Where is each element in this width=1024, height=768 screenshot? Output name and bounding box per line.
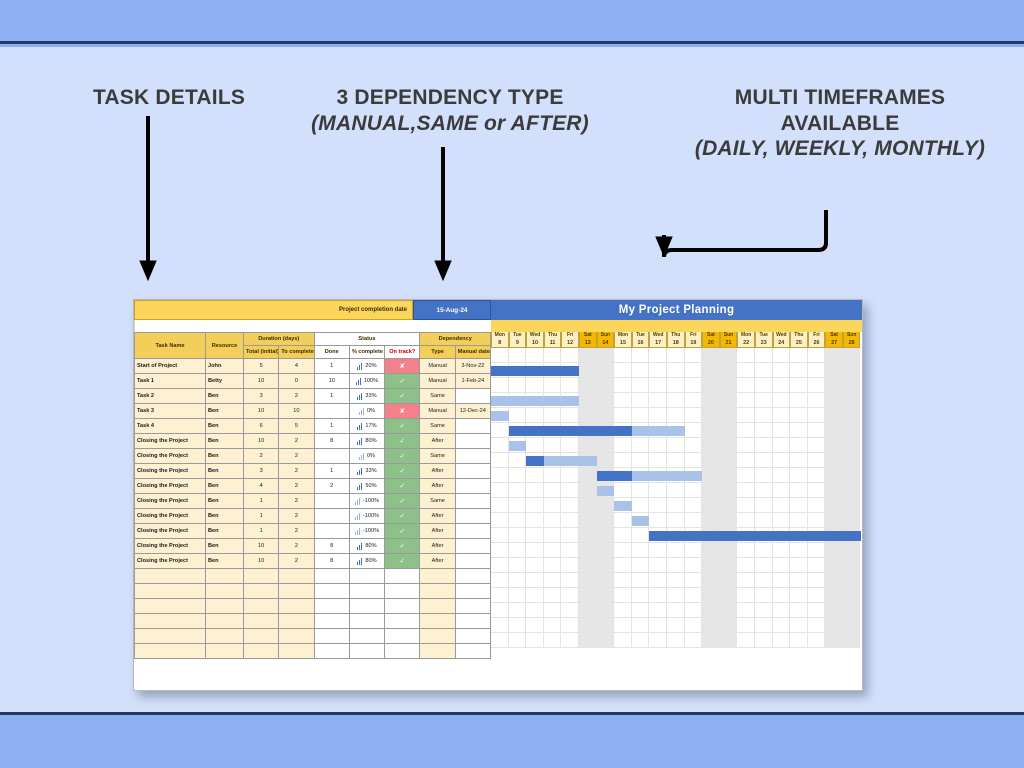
- cell-empty[interactable]: [244, 644, 279, 659]
- table-row-empty[interactable]: [135, 644, 491, 659]
- gantt-cell[interactable]: [773, 633, 791, 648]
- cell-total-initial[interactable]: 6: [244, 419, 279, 434]
- cell-to-complete[interactable]: 5: [279, 419, 314, 434]
- gantt-cell[interactable]: [632, 453, 650, 468]
- gantt-cell[interactable]: [597, 453, 615, 468]
- gantt-cell[interactable]: [755, 453, 773, 468]
- cell-task-name[interactable]: Task 4: [135, 419, 206, 434]
- gantt-cell[interactable]: [685, 528, 703, 543]
- cell-pct-complete[interactable]: 80%: [349, 539, 384, 554]
- gantt-cell[interactable]: [526, 588, 544, 603]
- gantt-cell[interactable]: [755, 498, 773, 513]
- col-manual-date[interactable]: Manual date: [455, 346, 490, 359]
- gantt-cell[interactable]: [632, 633, 650, 648]
- gantt-cell[interactable]: [702, 603, 720, 618]
- gantt-cell[interactable]: [755, 408, 773, 423]
- cell-done[interactable]: 1: [314, 464, 349, 479]
- gantt-cell[interactable]: [667, 483, 685, 498]
- gantt-cell[interactable]: [808, 363, 826, 378]
- gantt-cell[interactable]: [544, 378, 562, 393]
- cell-task-name[interactable]: Task 1: [135, 374, 206, 389]
- gantt-cell[interactable]: [843, 588, 861, 603]
- gantt-cell[interactable]: [491, 573, 509, 588]
- cell-to-complete[interactable]: 2: [279, 524, 314, 539]
- gantt-cell[interactable]: [632, 393, 650, 408]
- gantt-cell[interactable]: [808, 588, 826, 603]
- gantt-cell[interactable]: [649, 603, 667, 618]
- cell-total-initial[interactable]: 1: [244, 524, 279, 539]
- col-dependency-type[interactable]: Type: [420, 346, 455, 359]
- gantt-cell[interactable]: [667, 378, 685, 393]
- cell-resource[interactable]: Ben: [206, 389, 244, 404]
- gantt-day-header[interactable]: Sat20: [702, 332, 720, 348]
- col-done[interactable]: Done: [314, 346, 349, 359]
- cell-pct-complete[interactable]: -100%: [349, 524, 384, 539]
- status-badge[interactable]: ✓: [385, 494, 420, 509]
- gantt-cell[interactable]: [561, 528, 579, 543]
- gantt-cell[interactable]: [579, 438, 597, 453]
- gantt-cell[interactable]: [808, 453, 826, 468]
- gantt-cell[interactable]: [614, 513, 632, 528]
- cell-empty[interactable]: [135, 584, 206, 599]
- gantt-cell[interactable]: [737, 453, 755, 468]
- gantt-cell[interactable]: [526, 468, 544, 483]
- gantt-cell[interactable]: [509, 543, 527, 558]
- gantt-cell[interactable]: [702, 633, 720, 648]
- gantt-cell[interactable]: [773, 513, 791, 528]
- gantt-cell[interactable]: [737, 363, 755, 378]
- gantt-cell[interactable]: [561, 588, 579, 603]
- gantt-cell[interactable]: [685, 348, 703, 363]
- gantt-cell[interactable]: [649, 453, 667, 468]
- cell-dependency-type[interactable]: Same: [420, 494, 455, 509]
- gantt-cell[interactable]: [491, 423, 509, 438]
- gantt-cell[interactable]: [579, 543, 597, 558]
- gantt-cell[interactable]: [702, 573, 720, 588]
- gantt-cell[interactable]: [702, 423, 720, 438]
- gantt-cell[interactable]: [685, 393, 703, 408]
- cell-empty[interactable]: [455, 599, 490, 614]
- gantt-row[interactable]: [491, 408, 862, 423]
- gantt-cell[interactable]: [526, 573, 544, 588]
- gantt-cell[interactable]: [614, 543, 632, 558]
- gantt-cell[interactable]: [808, 618, 826, 633]
- gantt-cell[interactable]: [491, 348, 509, 363]
- gantt-cell[interactable]: [702, 528, 720, 543]
- gantt-row[interactable]: [491, 498, 862, 513]
- gantt-cell[interactable]: [825, 573, 843, 588]
- gantt-cell[interactable]: [597, 408, 615, 423]
- gantt-cell[interactable]: [614, 618, 632, 633]
- gantt-cell[interactable]: [825, 558, 843, 573]
- cell-empty[interactable]: [314, 584, 349, 599]
- cell-done[interactable]: [314, 494, 349, 509]
- gantt-cell[interactable]: [685, 408, 703, 423]
- gantt-cell[interactable]: [614, 558, 632, 573]
- col-task-name[interactable]: Task Name: [135, 333, 206, 359]
- cell-empty[interactable]: [385, 629, 420, 644]
- cell-manual-date[interactable]: 3-Nov-22: [455, 359, 490, 374]
- cell-empty[interactable]: [385, 644, 420, 659]
- gantt-cell[interactable]: [509, 588, 527, 603]
- gantt-cell[interactable]: [579, 513, 597, 528]
- gantt-cell[interactable]: [544, 588, 562, 603]
- cell-manual-date[interactable]: [455, 479, 490, 494]
- gantt-cell[interactable]: [790, 468, 808, 483]
- cell-manual-date[interactable]: [455, 419, 490, 434]
- gantt-cell[interactable]: [702, 468, 720, 483]
- gantt-day-header[interactable]: Sun28: [843, 332, 861, 348]
- gantt-cell[interactable]: [579, 453, 597, 468]
- gantt-cell[interactable]: [720, 633, 738, 648]
- gantt-cell[interactable]: [755, 618, 773, 633]
- gantt-cell[interactable]: [544, 543, 562, 558]
- gantt-cell[interactable]: [561, 513, 579, 528]
- cell-empty[interactable]: [279, 614, 314, 629]
- cell-dependency-type[interactable]: After: [420, 464, 455, 479]
- cell-empty[interactable]: [455, 584, 490, 599]
- gantt-cell[interactable]: [491, 483, 509, 498]
- gantt-cell[interactable]: [843, 528, 861, 543]
- cell-empty[interactable]: [349, 599, 384, 614]
- gantt-cell[interactable]: [544, 513, 562, 528]
- gantt-day-header[interactable]: Tue16: [632, 332, 650, 348]
- cell-resource[interactable]: Ben: [206, 509, 244, 524]
- gantt-cell[interactable]: [649, 528, 667, 543]
- gantt-cell[interactable]: [649, 573, 667, 588]
- col-on-track[interactable]: On track?: [385, 346, 420, 359]
- status-badge[interactable]: ✓: [385, 539, 420, 554]
- cell-empty[interactable]: [279, 599, 314, 614]
- cell-task-name[interactable]: Closing the Project: [135, 509, 206, 524]
- cell-to-complete[interactable]: 2: [279, 494, 314, 509]
- cell-empty[interactable]: [279, 644, 314, 659]
- gantt-cell[interactable]: [509, 633, 527, 648]
- cell-empty[interactable]: [420, 599, 455, 614]
- table-row[interactable]: Closing the ProjectBen12-100%✓After: [135, 524, 491, 539]
- gantt-cell[interactable]: [773, 573, 791, 588]
- cell-dependency-type[interactable]: After: [420, 554, 455, 569]
- cell-total-initial[interactable]: 1: [244, 494, 279, 509]
- cell-total-initial[interactable]: 10: [244, 539, 279, 554]
- gantt-cell[interactable]: [685, 483, 703, 498]
- cell-empty[interactable]: [206, 614, 244, 629]
- gantt-cell[interactable]: [825, 363, 843, 378]
- cell-to-complete[interactable]: 2: [279, 449, 314, 464]
- gantt-cell[interactable]: [685, 558, 703, 573]
- cell-empty[interactable]: [206, 584, 244, 599]
- gantt-cell[interactable]: [597, 438, 615, 453]
- gantt-cell[interactable]: [509, 408, 527, 423]
- gantt-cell[interactable]: [544, 498, 562, 513]
- gantt-cell[interactable]: [509, 438, 527, 453]
- cell-total-initial[interactable]: 2: [244, 449, 279, 464]
- gantt-cell[interactable]: [649, 543, 667, 558]
- gantt-cell[interactable]: [667, 348, 685, 363]
- cell-empty[interactable]: [349, 644, 384, 659]
- table-row-empty[interactable]: [135, 584, 491, 599]
- cell-manual-date[interactable]: [455, 449, 490, 464]
- gantt-cell[interactable]: [737, 483, 755, 498]
- gantt-cell[interactable]: [843, 423, 861, 438]
- gantt-cell[interactable]: [737, 633, 755, 648]
- gantt-cell[interactable]: [632, 378, 650, 393]
- gantt-cell[interactable]: [667, 558, 685, 573]
- gantt-cell[interactable]: [632, 498, 650, 513]
- gantt-cell[interactable]: [491, 408, 509, 423]
- gantt-cell[interactable]: [509, 453, 527, 468]
- gantt-cell[interactable]: [526, 348, 544, 363]
- cell-manual-date[interactable]: [455, 494, 490, 509]
- gantt-cell[interactable]: [808, 513, 826, 528]
- gantt-cell[interactable]: [773, 543, 791, 558]
- gantt-cell[interactable]: [773, 483, 791, 498]
- gantt-cell[interactable]: [649, 468, 667, 483]
- gantt-cell[interactable]: [579, 603, 597, 618]
- gantt-cell[interactable]: [509, 393, 527, 408]
- cell-done[interactable]: [314, 524, 349, 539]
- cell-pct-complete[interactable]: 33%: [349, 464, 384, 479]
- gantt-cell[interactable]: [720, 483, 738, 498]
- gantt-cell[interactable]: [843, 438, 861, 453]
- gantt-cell[interactable]: [843, 618, 861, 633]
- gantt-day-header[interactable]: Wed24: [773, 332, 791, 348]
- gantt-cell[interactable]: [526, 378, 544, 393]
- gantt-cell[interactable]: [843, 378, 861, 393]
- cell-task-name[interactable]: Closing the Project: [135, 524, 206, 539]
- gantt-cell[interactable]: [632, 543, 650, 558]
- gantt-cell[interactable]: [773, 498, 791, 513]
- gantt-cell[interactable]: [649, 423, 667, 438]
- table-row-empty[interactable]: [135, 629, 491, 644]
- cell-empty[interactable]: [135, 599, 206, 614]
- gantt-cell[interactable]: [579, 378, 597, 393]
- gantt-cell[interactable]: [544, 348, 562, 363]
- cell-dependency-type[interactable]: Same: [420, 419, 455, 434]
- gantt-cell[interactable]: [737, 588, 755, 603]
- gantt-cell[interactable]: [597, 618, 615, 633]
- gantt-cell[interactable]: [544, 468, 562, 483]
- gantt-cell[interactable]: [825, 453, 843, 468]
- gantt-cell[interactable]: [614, 573, 632, 588]
- gantt-cell[interactable]: [509, 468, 527, 483]
- gantt-cell[interactable]: [649, 558, 667, 573]
- gantt-cell[interactable]: [509, 513, 527, 528]
- gantt-cell[interactable]: [702, 408, 720, 423]
- gantt-row[interactable]: [491, 393, 862, 408]
- gantt-cell[interactable]: [579, 483, 597, 498]
- col-total-initial[interactable]: Total (initial): [244, 346, 279, 359]
- cell-empty[interactable]: [279, 569, 314, 584]
- gantt-cell[interactable]: [509, 603, 527, 618]
- cell-resource[interactable]: Ben: [206, 524, 244, 539]
- gantt-cell[interactable]: [667, 363, 685, 378]
- table-row[interactable]: Closing the ProjectBen102880%✓After: [135, 554, 491, 569]
- gantt-cell[interactable]: [720, 378, 738, 393]
- gantt-day-header[interactable]: Thu11: [544, 332, 562, 348]
- gantt-row[interactable]: [491, 618, 862, 633]
- gantt-cell[interactable]: [843, 483, 861, 498]
- gantt-cell[interactable]: [614, 633, 632, 648]
- gantt-row[interactable]: [491, 558, 862, 573]
- gantt-cell[interactable]: [843, 543, 861, 558]
- gantt-cell[interactable]: [737, 513, 755, 528]
- gantt-cell[interactable]: [825, 498, 843, 513]
- gantt-cell[interactable]: [509, 348, 527, 363]
- table-row[interactable]: Start of ProjectJohn54120%✘Manual3-Nov-2…: [135, 359, 491, 374]
- gantt-cell[interactable]: [790, 453, 808, 468]
- gantt-cell[interactable]: [667, 633, 685, 648]
- gantt-cell[interactable]: [808, 378, 826, 393]
- cell-done[interactable]: 8: [314, 539, 349, 554]
- gantt-cell[interactable]: [755, 468, 773, 483]
- cell-total-initial[interactable]: 10: [244, 554, 279, 569]
- table-row[interactable]: Closing the ProjectBen220%✓Same: [135, 449, 491, 464]
- gantt-cell[interactable]: [685, 363, 703, 378]
- cell-resource[interactable]: John: [206, 359, 244, 374]
- gantt-cell[interactable]: [790, 393, 808, 408]
- gantt-cell[interactable]: [649, 363, 667, 378]
- gantt-cell[interactable]: [702, 618, 720, 633]
- gantt-cell[interactable]: [790, 633, 808, 648]
- gantt-cell[interactable]: [667, 603, 685, 618]
- gantt-row[interactable]: [491, 513, 862, 528]
- gantt-row[interactable]: [491, 543, 862, 558]
- gantt-row[interactable]: [491, 378, 862, 393]
- cell-task-name[interactable]: Closing the Project: [135, 449, 206, 464]
- gantt-cell[interactable]: [632, 468, 650, 483]
- gantt-cell[interactable]: [755, 603, 773, 618]
- cell-resource[interactable]: Ben: [206, 419, 244, 434]
- gantt-cell[interactable]: [808, 438, 826, 453]
- table-row-empty[interactable]: [135, 614, 491, 629]
- gantt-cell[interactable]: [526, 393, 544, 408]
- gantt-cell[interactable]: [773, 348, 791, 363]
- gantt-cell[interactable]: [561, 603, 579, 618]
- gantt-cell[interactable]: [737, 408, 755, 423]
- gantt-cell[interactable]: [597, 378, 615, 393]
- gantt-cell[interactable]: [685, 453, 703, 468]
- gantt-cell[interactable]: [720, 393, 738, 408]
- cell-task-name[interactable]: Closing the Project: [135, 494, 206, 509]
- cell-empty[interactable]: [455, 644, 490, 659]
- gantt-cell[interactable]: [509, 528, 527, 543]
- gantt-row[interactable]: [491, 453, 862, 468]
- gantt-cell[interactable]: [737, 573, 755, 588]
- gantt-cell[interactable]: [526, 633, 544, 648]
- gantt-cell[interactable]: [526, 528, 544, 543]
- completion-date-value[interactable]: 15-Aug-24: [413, 300, 491, 320]
- cell-empty[interactable]: [420, 629, 455, 644]
- gantt-cell[interactable]: [491, 468, 509, 483]
- cell-task-name[interactable]: Closing the Project: [135, 479, 206, 494]
- gantt-cell[interactable]: [614, 438, 632, 453]
- gantt-cell[interactable]: [491, 453, 509, 468]
- gantt-cell[interactable]: [773, 528, 791, 543]
- cell-empty[interactable]: [206, 629, 244, 644]
- gantt-cell[interactable]: [843, 348, 861, 363]
- gantt-cell[interactable]: [526, 363, 544, 378]
- cell-empty[interactable]: [385, 599, 420, 614]
- cell-pct-complete[interactable]: 50%: [349, 479, 384, 494]
- gantt-cell[interactable]: [526, 498, 544, 513]
- cell-empty[interactable]: [279, 629, 314, 644]
- gantt-cell[interactable]: [737, 348, 755, 363]
- gantt-row[interactable]: [491, 603, 862, 618]
- gantt-cell[interactable]: [667, 588, 685, 603]
- cell-dependency-type[interactable]: Manual: [420, 404, 455, 419]
- gantt-cell[interactable]: [632, 603, 650, 618]
- gantt-cell[interactable]: [843, 393, 861, 408]
- gantt-cell[interactable]: [614, 588, 632, 603]
- gantt-cell[interactable]: [808, 483, 826, 498]
- cell-resource[interactable]: Ben: [206, 434, 244, 449]
- table-row-empty[interactable]: [135, 599, 491, 614]
- gantt-cell[interactable]: [491, 528, 509, 543]
- table-row[interactable]: Closing the ProjectBen12-100%✓Same: [135, 494, 491, 509]
- gantt-cell[interactable]: [702, 453, 720, 468]
- gantt-cell[interactable]: [544, 423, 562, 438]
- gantt-cell[interactable]: [737, 543, 755, 558]
- gantt-row[interactable]: [491, 573, 862, 588]
- gantt-cell[interactable]: [755, 633, 773, 648]
- cell-resource[interactable]: Ben: [206, 479, 244, 494]
- gantt-cell[interactable]: [702, 543, 720, 558]
- gantt-cell[interactable]: [544, 558, 562, 573]
- cell-manual-date[interactable]: [455, 389, 490, 404]
- cell-empty[interactable]: [314, 569, 349, 584]
- gantt-cell[interactable]: [579, 348, 597, 363]
- cell-resource[interactable]: Ben: [206, 554, 244, 569]
- gantt-cell[interactable]: [614, 483, 632, 498]
- gantt-row[interactable]: [491, 348, 862, 363]
- gantt-cell[interactable]: [755, 438, 773, 453]
- cell-empty[interactable]: [420, 644, 455, 659]
- cell-empty[interactable]: [314, 599, 349, 614]
- cell-done[interactable]: 8: [314, 554, 349, 569]
- status-badge[interactable]: ✓: [385, 554, 420, 569]
- gantt-row[interactable]: [491, 423, 862, 438]
- gantt-row[interactable]: [491, 588, 862, 603]
- gantt-cell[interactable]: [544, 633, 562, 648]
- cell-pct-complete[interactable]: 100%: [349, 374, 384, 389]
- gantt-cell[interactable]: [790, 483, 808, 498]
- status-badge[interactable]: ✓: [385, 434, 420, 449]
- cell-to-complete[interactable]: 2: [279, 464, 314, 479]
- gantt-cell[interactable]: [702, 498, 720, 513]
- gantt-cell[interactable]: [685, 498, 703, 513]
- cell-empty[interactable]: [244, 584, 279, 599]
- gantt-cell[interactable]: [808, 573, 826, 588]
- cell-dependency-type[interactable]: Manual: [420, 374, 455, 389]
- gantt-cell[interactable]: [755, 348, 773, 363]
- gantt-cell[interactable]: [720, 408, 738, 423]
- cell-empty[interactable]: [349, 629, 384, 644]
- cell-dependency-type[interactable]: After: [420, 524, 455, 539]
- gantt-cell[interactable]: [808, 558, 826, 573]
- gantt-cell[interactable]: [685, 603, 703, 618]
- cell-empty[interactable]: [135, 614, 206, 629]
- gantt-cell[interactable]: [685, 423, 703, 438]
- gantt-cell[interactable]: [597, 513, 615, 528]
- gantt-cell[interactable]: [790, 513, 808, 528]
- gantt-cell[interactable]: [720, 363, 738, 378]
- gantt-cell[interactable]: [737, 558, 755, 573]
- cell-empty[interactable]: [314, 629, 349, 644]
- gantt-cell[interactable]: [561, 453, 579, 468]
- gantt-cell[interactable]: [579, 588, 597, 603]
- gantt-cell[interactable]: [790, 543, 808, 558]
